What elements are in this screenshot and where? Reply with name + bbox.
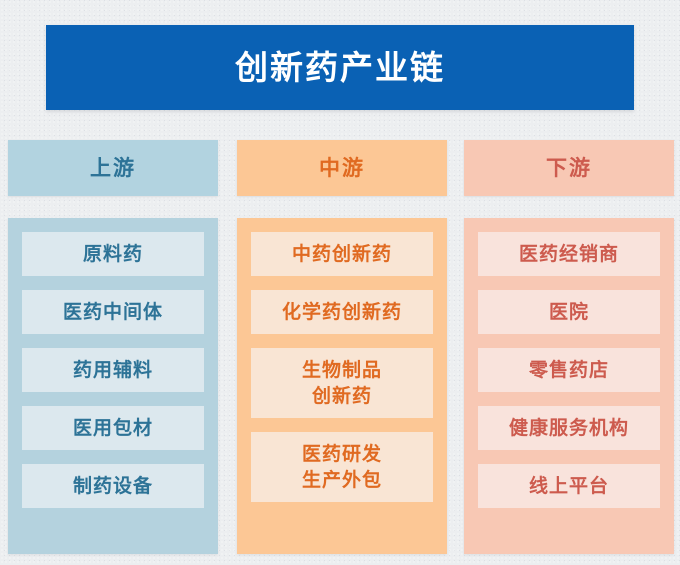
list-item-label: 健康服务机构 <box>509 415 629 441</box>
column-body-midstream: 中药创新药 化学药创新药 生物制品 创新药 医药研发 生产外包 <box>237 218 447 554</box>
list-item-label: 中药创新药 <box>292 241 392 267</box>
industry-chain-columns: 上游 原料药 医药中间体 药用辅料 医用包材 制药设备 <box>0 140 680 558</box>
title-banner: 创新药产业链 <box>46 25 634 110</box>
list-item-upstream-3[interactable]: 药用辅料 <box>22 348 204 392</box>
list-item-downstream-5[interactable]: 线上平台 <box>478 464 660 508</box>
list-item-downstream-4[interactable]: 健康服务机构 <box>478 406 660 450</box>
column-body-downstream: 医药经销商 医院 零售药店 健康服务机构 线上平台 <box>464 218 674 554</box>
list-item-downstream-3[interactable]: 零售药店 <box>478 348 660 392</box>
list-item-upstream-2[interactable]: 医药中间体 <box>22 290 204 334</box>
list-item-downstream-2[interactable]: 医院 <box>478 290 660 334</box>
list-item-upstream-5[interactable]: 制药设备 <box>22 464 204 508</box>
list-item-midstream-1[interactable]: 中药创新药 <box>251 232 433 276</box>
column-body-upstream: 原料药 医药中间体 药用辅料 医用包材 制药设备 <box>8 218 218 554</box>
column-header-upstream: 上游 <box>8 140 218 196</box>
list-item-label: 化学药创新药 <box>282 299 402 325</box>
column-header-downstream: 下游 <box>464 140 674 196</box>
innovative-drug-industry-chain-infographic: 创新药产业链 上游 原料药 医药中间体 药用辅料 医用包材 <box>0 0 680 565</box>
list-item-upstream-1[interactable]: 原料药 <box>22 232 204 276</box>
list-item-label: 医院 <box>549 299 589 325</box>
list-item-label: 医药研发 生产外包 <box>302 441 382 493</box>
column-header-label-upstream: 上游 <box>90 158 136 179</box>
column-downstream: 下游 医药经销商 医院 零售药店 健康服务机构 线上平台 <box>464 140 674 554</box>
list-item-label: 生物制品 创新药 <box>302 357 382 409</box>
list-item-midstream-3[interactable]: 生物制品 创新药 <box>251 348 433 418</box>
column-header-label-midstream: 中游 <box>319 158 365 179</box>
list-item-label: 医药经销商 <box>519 241 619 267</box>
list-item-label: 医用包材 <box>73 415 153 441</box>
list-item-label: 药用辅料 <box>73 357 153 383</box>
list-item-midstream-2[interactable]: 化学药创新药 <box>251 290 433 334</box>
list-item-midstream-4[interactable]: 医药研发 生产外包 <box>251 432 433 502</box>
list-item-label: 医药中间体 <box>63 299 163 325</box>
list-item-label: 制药设备 <box>73 473 153 499</box>
list-item-label: 线上平台 <box>529 473 609 499</box>
list-item-downstream-1[interactable]: 医药经销商 <box>478 232 660 276</box>
column-midstream: 中游 中药创新药 化学药创新药 生物制品 创新药 医药研发 生产外包 <box>237 140 447 554</box>
page-title: 创新药产业链 <box>235 51 445 84</box>
list-item-label: 原料药 <box>83 241 143 267</box>
column-header-label-downstream: 下游 <box>546 158 592 179</box>
list-item-label: 零售药店 <box>529 357 609 383</box>
column-upstream: 上游 原料药 医药中间体 药用辅料 医用包材 制药设备 <box>8 140 218 554</box>
list-item-upstream-4[interactable]: 医用包材 <box>22 406 204 450</box>
column-header-midstream: 中游 <box>237 140 447 196</box>
